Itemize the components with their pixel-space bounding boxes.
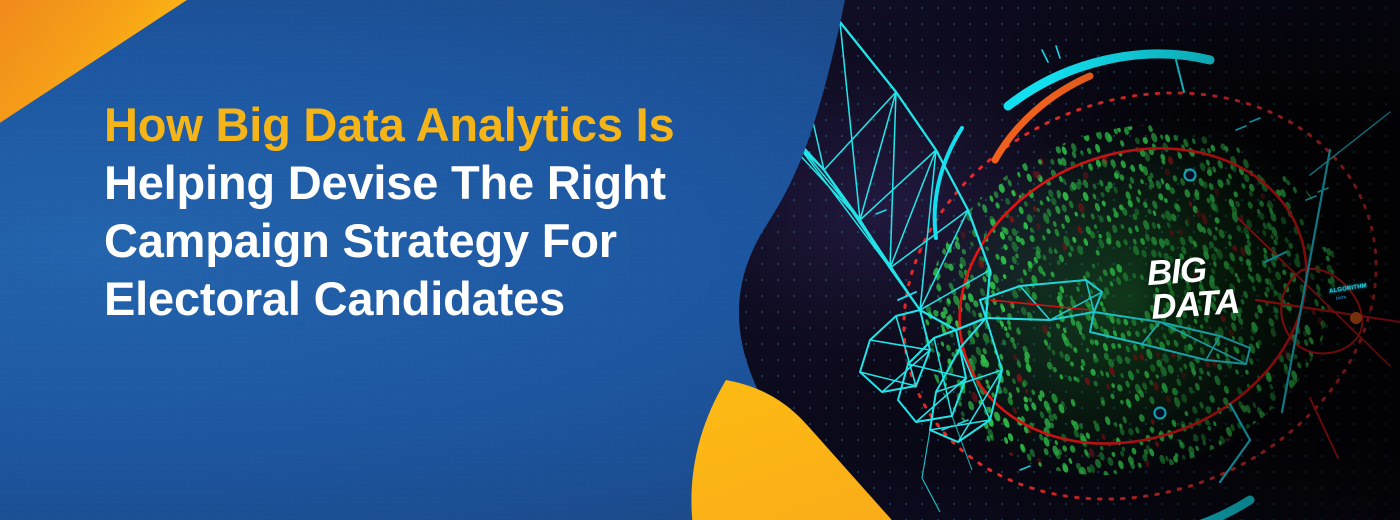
headline-line-3: Campaign Strategy For (104, 212, 724, 270)
hero-banner: How Big Data Analytics Is Helping Devise… (0, 0, 1400, 520)
headline-line-2: Helping Devise The Right (104, 154, 724, 212)
big-data-label-line-2: DATA (1148, 285, 1240, 325)
headline-line-1: How Big Data Analytics Is (104, 96, 724, 154)
page-title: How Big Data Analytics Is Helping Devise… (104, 96, 724, 328)
big-data-label: BIG DATA (1146, 251, 1241, 325)
headline-line-4: Electoral Candidates (104, 270, 724, 328)
